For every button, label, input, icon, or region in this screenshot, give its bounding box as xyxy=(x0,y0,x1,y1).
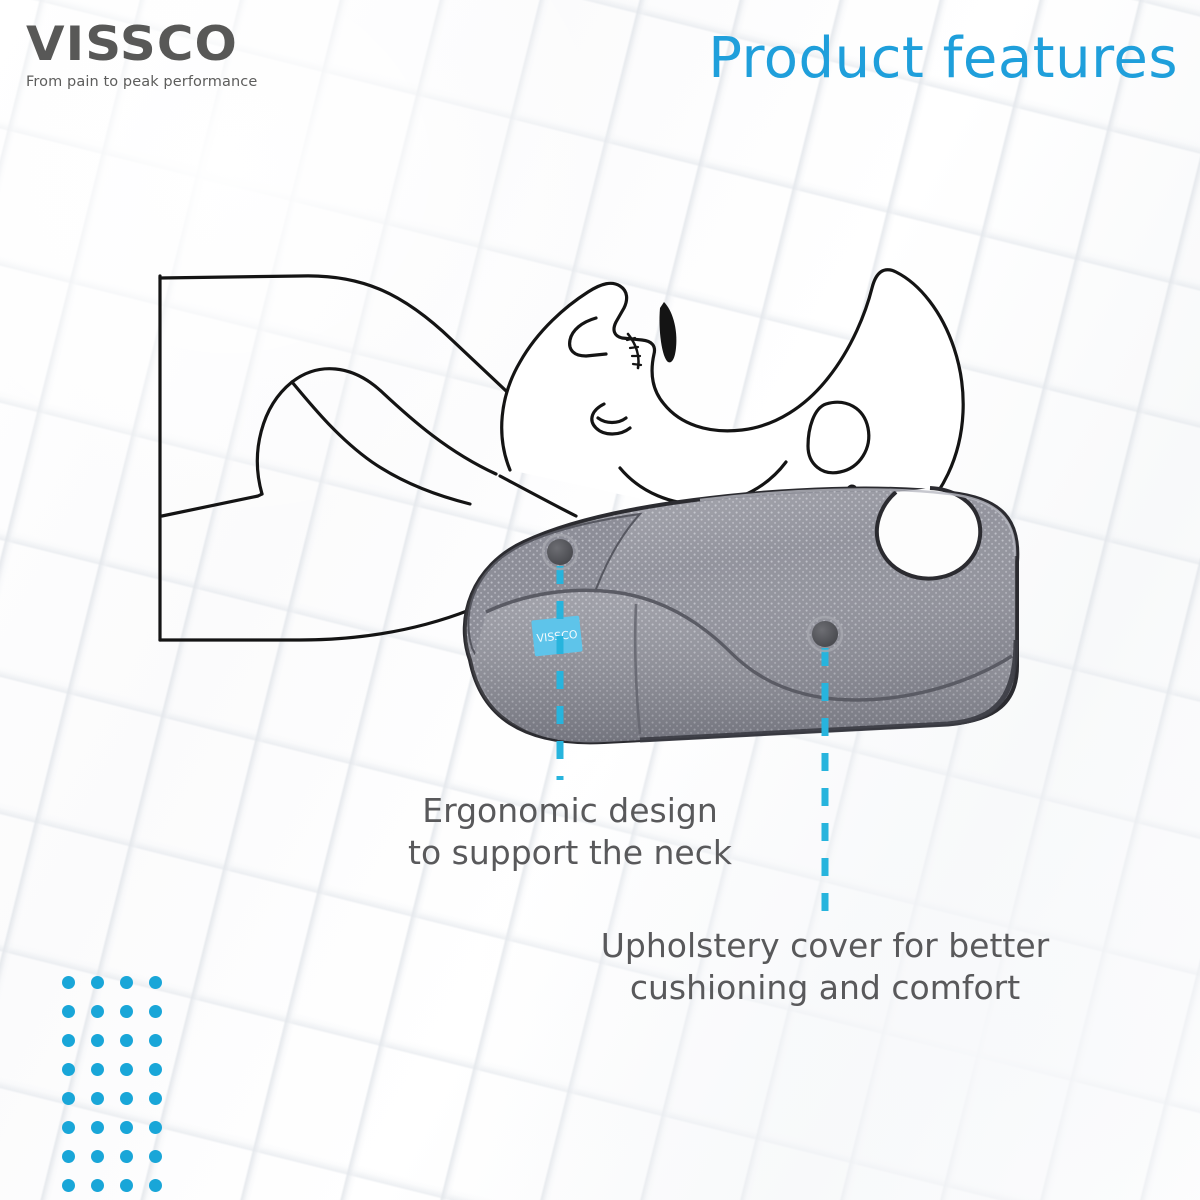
dot xyxy=(149,976,162,989)
dot xyxy=(120,1005,133,1018)
decorative-dot-grid xyxy=(62,976,178,1200)
cervical-pillow: VISSCO xyxy=(440,470,1040,770)
dot xyxy=(91,1121,104,1134)
dot xyxy=(91,1150,104,1163)
dot xyxy=(120,1092,133,1105)
dot xyxy=(149,1121,162,1134)
infographic-canvas: VISSCO From pain to peak performance Pro… xyxy=(0,0,1200,1200)
shoulder-arm xyxy=(257,369,496,494)
dot xyxy=(62,1034,75,1047)
dot xyxy=(91,1034,104,1047)
callout-marker-upholstery xyxy=(812,621,838,647)
shoulder-crease xyxy=(162,494,262,516)
dot xyxy=(149,1150,162,1163)
dot xyxy=(120,1063,133,1076)
product-illustration: VISSCO xyxy=(0,0,1200,1200)
dot xyxy=(149,1092,162,1105)
side-notch xyxy=(877,488,980,578)
dot xyxy=(62,1179,75,1192)
dot xyxy=(91,976,104,989)
dot xyxy=(120,976,133,989)
caption-ergonomic-design: Ergonomic design to support the neck xyxy=(340,790,800,874)
dot xyxy=(149,1034,162,1047)
dot xyxy=(62,1121,75,1134)
dot xyxy=(91,1005,104,1018)
dot xyxy=(149,1005,162,1018)
caption-upholstery-cover: Upholstery cover for better cushioning a… xyxy=(545,925,1105,1009)
dot xyxy=(62,1150,75,1163)
dot xyxy=(120,1150,133,1163)
dot xyxy=(120,1121,133,1134)
eyebrow xyxy=(659,302,676,362)
dot xyxy=(62,1005,75,1018)
dot xyxy=(120,1034,133,1047)
dot xyxy=(91,1063,104,1076)
dot xyxy=(91,1092,104,1105)
dot xyxy=(120,1179,133,1192)
torso-outline xyxy=(160,276,520,404)
dot xyxy=(91,1179,104,1192)
dot xyxy=(62,976,75,989)
callout-marker-ergonomic xyxy=(547,539,573,565)
dot xyxy=(62,1063,75,1076)
dot xyxy=(149,1063,162,1076)
dot xyxy=(62,1092,75,1105)
dot xyxy=(149,1179,162,1192)
